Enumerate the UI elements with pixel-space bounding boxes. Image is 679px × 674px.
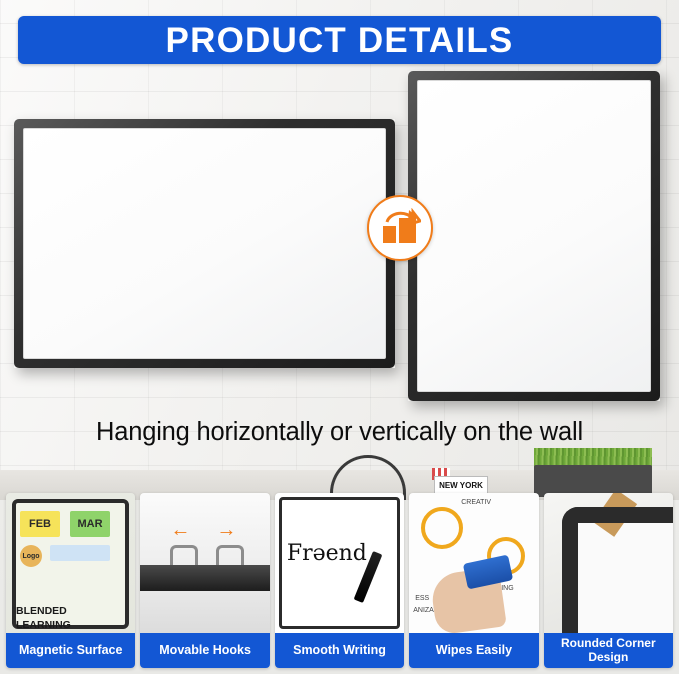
feature-photo-wipes-easily: CREATIV IDEA LOPING ESS ANIZATI [409, 493, 538, 633]
sticky-note-strip [50, 545, 110, 561]
feature-photo-movable-hooks: ← → [140, 493, 269, 633]
feature-caption-magnetic-surface: Magnetic Surface [6, 633, 135, 668]
rounded-corner-frame [562, 507, 673, 633]
feature-photo-magnetic-surface: FEB MAR Logo BLENDED LEARNING [6, 493, 135, 633]
horizontal-whiteboard-surface [23, 128, 386, 359]
vertical-whiteboard [408, 71, 660, 401]
sticky-note-logo: Logo [20, 545, 42, 567]
feature-card-magnetic-surface[interactable]: FEB MAR Logo BLENDED LEARNING Magnetic S… [6, 493, 135, 668]
product-details-banner: PRODUCT DETAILS [18, 16, 661, 64]
hero-tagline: Hanging horizontally or vertically on th… [0, 418, 679, 447]
new-york-card: NEW YORK [434, 476, 488, 494]
gear-ring-decor [421, 507, 463, 549]
sticky-note-feb: FEB [20, 511, 60, 537]
vertical-whiteboard-frame [408, 71, 660, 401]
sticky-note-mar: MAR [70, 511, 110, 537]
rotate-arrow-icon [367, 195, 433, 261]
feature-overlay-text-learning: LEARNING [16, 619, 71, 631]
vertical-whiteboard-surface [417, 80, 651, 392]
feature-caption-wipes-easily: Wipes Easily [409, 633, 538, 668]
handwriting-sample: Frəend [287, 541, 367, 566]
feature-photo-rounded-corner [544, 493, 673, 633]
feature-card-rounded-corner[interactable]: Rounded Corner Design [544, 493, 673, 668]
page-title: PRODUCT DETAILS [166, 23, 514, 58]
word-creativ: CREATIV [461, 499, 491, 506]
feature-caption-movable-hooks: Movable Hooks [140, 633, 269, 668]
feature-card-smooth-writing[interactable]: Frəend Smooth Writing [275, 493, 404, 668]
board-rail [140, 565, 269, 591]
feature-card-movable-hooks[interactable]: ← → Movable Hooks [140, 493, 269, 668]
horizontal-whiteboard-frame [14, 119, 395, 368]
feature-overlay-text-blended: BLENDED [16, 605, 67, 617]
word-ess: ESS [415, 595, 429, 602]
feature-card-wipes-easily[interactable]: CREATIV IDEA LOPING ESS ANIZATI Wipes Ea… [409, 493, 538, 668]
feature-photo-smooth-writing: Frəend [275, 493, 404, 633]
horizontal-whiteboard [14, 119, 395, 368]
feature-strip: FEB MAR Logo BLENDED LEARNING Magnetic S… [6, 493, 673, 668]
feature-caption-smooth-writing: Smooth Writing [275, 633, 404, 668]
arrow-right-icon: → [216, 519, 236, 542]
feature-caption-rounded-corner: Rounded Corner Design [544, 633, 673, 668]
arrow-left-icon: ← [170, 519, 190, 542]
product-details-page: NEW YORK PRODUCT DETAILS Hanging horizon… [0, 0, 679, 674]
